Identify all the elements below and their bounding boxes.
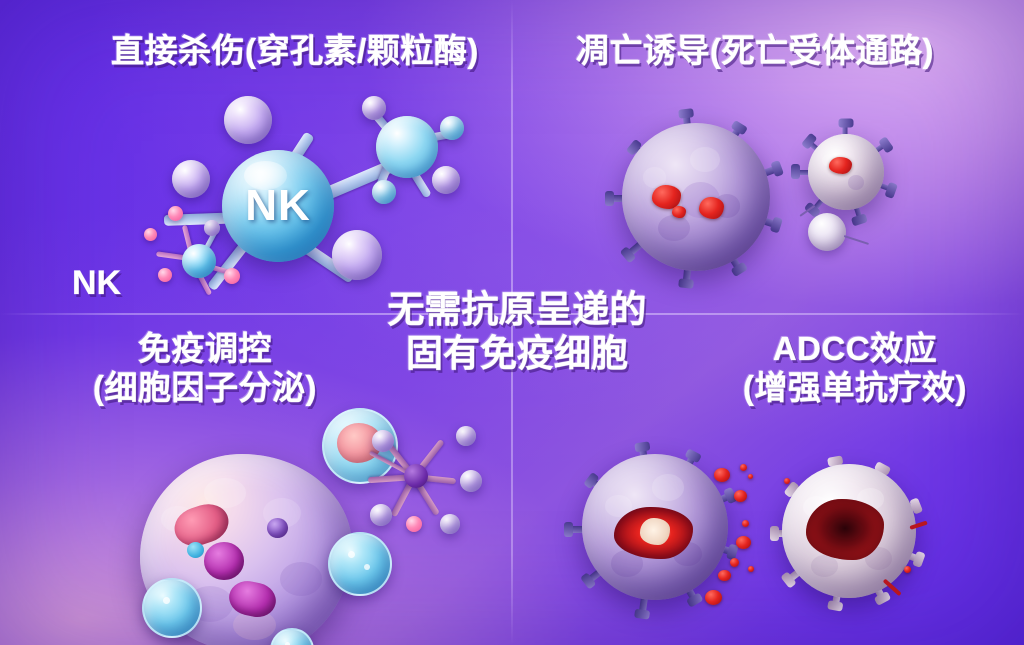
blood-droplet xyxy=(742,520,749,527)
blood-droplet xyxy=(904,566,911,573)
organelle xyxy=(187,542,204,558)
lysis-core xyxy=(640,518,669,544)
cell-membrane xyxy=(582,454,728,600)
molecule-core-node xyxy=(404,464,428,488)
blood-droplet xyxy=(748,566,754,572)
molecule-node xyxy=(332,230,382,280)
molecule-node xyxy=(158,268,172,282)
molecule-node xyxy=(440,514,460,534)
poster-canvas: NK xyxy=(0,0,1024,645)
granule-marker xyxy=(699,197,724,219)
lysis-wound xyxy=(806,499,884,561)
cytokine-molecule-small xyxy=(140,206,270,306)
apoptotic-body xyxy=(790,205,880,265)
molecule-node xyxy=(406,516,422,532)
cell-filament xyxy=(844,235,869,245)
molecule-node xyxy=(172,160,210,198)
cell-filament xyxy=(799,205,815,217)
blood-droplet xyxy=(705,590,722,605)
nk-caption-label: NK xyxy=(72,264,121,303)
cell-membrane xyxy=(622,123,770,271)
blood-droplet xyxy=(736,536,751,549)
cell-membrane xyxy=(782,464,916,598)
blood-droplet xyxy=(748,474,753,479)
quadrant-title-apoptosis: 凋亡诱导(死亡受体通路) xyxy=(520,32,990,71)
molecule-node xyxy=(224,96,272,144)
blood-droplet xyxy=(718,570,731,581)
cell-membrane xyxy=(808,134,884,210)
molecule-node xyxy=(168,206,183,221)
molecule-node xyxy=(440,116,464,140)
molecule-node xyxy=(204,220,220,236)
molecule-node xyxy=(144,228,157,241)
molecule-node xyxy=(456,426,476,446)
molecule-node xyxy=(362,96,386,120)
blood-droplet xyxy=(730,558,739,567)
molecule-node xyxy=(372,180,396,204)
molecule-node xyxy=(460,470,482,492)
adcc-target-cell-purple xyxy=(562,438,752,623)
apoptosis-cell-large xyxy=(600,105,790,290)
center-headline: 无需抗原呈递的 固有免疫细胞 xyxy=(357,288,677,377)
granule-marker xyxy=(829,157,852,174)
molecule-node xyxy=(182,244,216,278)
cytokine-vesicle xyxy=(142,578,202,638)
quadrant-title-immune-regulation: 免疫调控 (细胞因子分泌) xyxy=(30,330,380,408)
blood-droplet xyxy=(734,490,747,502)
molecule-node xyxy=(432,166,460,194)
molecule-node xyxy=(376,116,438,178)
receptor-molecule-cluster xyxy=(352,412,492,542)
blood-droplet xyxy=(740,464,747,471)
molecule-node xyxy=(372,430,394,452)
quadrant-title-adcc: ADCC效应 (增强单抗疗效) xyxy=(700,330,1010,408)
molecule-node xyxy=(370,504,392,526)
molecule-node xyxy=(224,268,240,284)
granule-marker xyxy=(672,206,685,218)
organelle xyxy=(204,542,244,580)
blood-droplet xyxy=(714,468,730,482)
blood-droplet xyxy=(784,478,790,484)
quadrant-title-direct-kill: 直接杀伤(穿孔素/颗粒酶) xyxy=(60,32,530,71)
cell-membrane xyxy=(808,213,846,251)
adcc-target-cell-pale xyxy=(762,448,937,618)
cell-surface-texture xyxy=(622,123,770,271)
